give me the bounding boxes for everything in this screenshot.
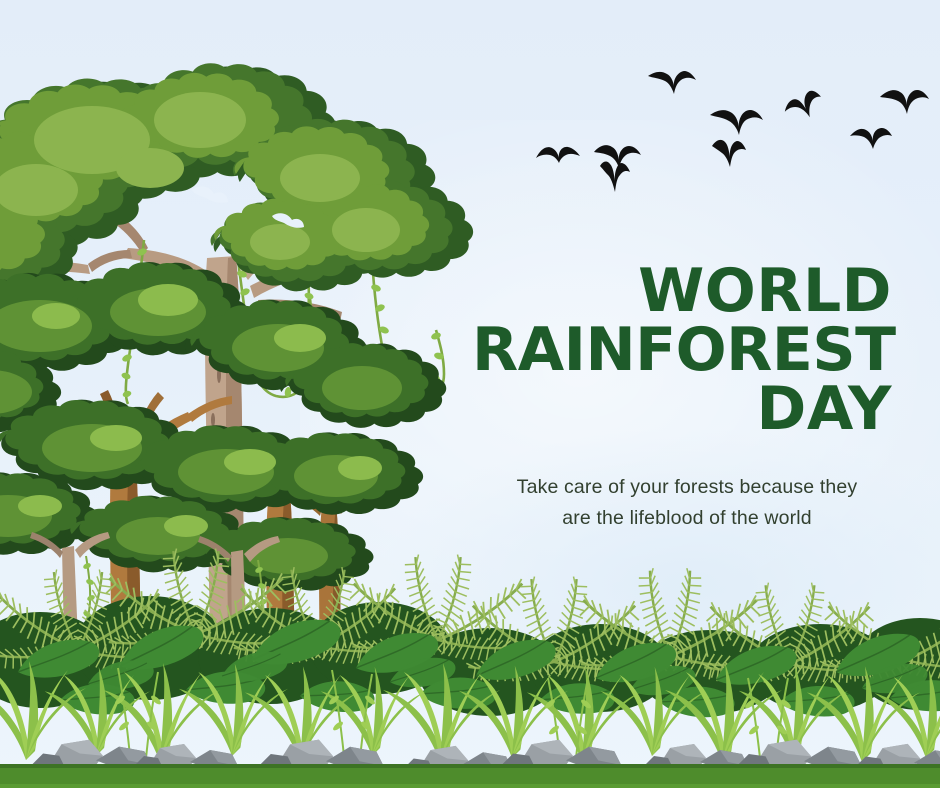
- poster-tagline: Take care of your forests because they a…: [472, 472, 892, 532]
- bird-silhouette-group: [536, 71, 929, 192]
- tagline-line-2: are the lifeblood of the world: [482, 503, 892, 533]
- world-rainforest-day-poster: WORLD RAINFOREST DAY Take care of your f…: [0, 0, 940, 788]
- headline-line-1: WORLD: [472, 262, 892, 321]
- page-title: WORLD RAINFOREST DAY: [472, 262, 892, 438]
- bird-icon: [600, 162, 630, 192]
- tagline-line-1: Take care of your forests because they: [482, 472, 892, 502]
- headline-line-3: DAY: [472, 380, 892, 439]
- poster-text-block: WORLD RAINFOREST DAY Take care of your f…: [472, 262, 892, 533]
- bird-icon: [648, 71, 696, 94]
- bird-icon: [781, 88, 826, 124]
- headline-line-2: RAINFOREST: [472, 321, 892, 380]
- bird-icon: [880, 90, 929, 114]
- bird-icon: [536, 147, 580, 163]
- bird-icon: [850, 128, 892, 149]
- bird-icon: [710, 110, 763, 135]
- bird-icon: [712, 140, 746, 167]
